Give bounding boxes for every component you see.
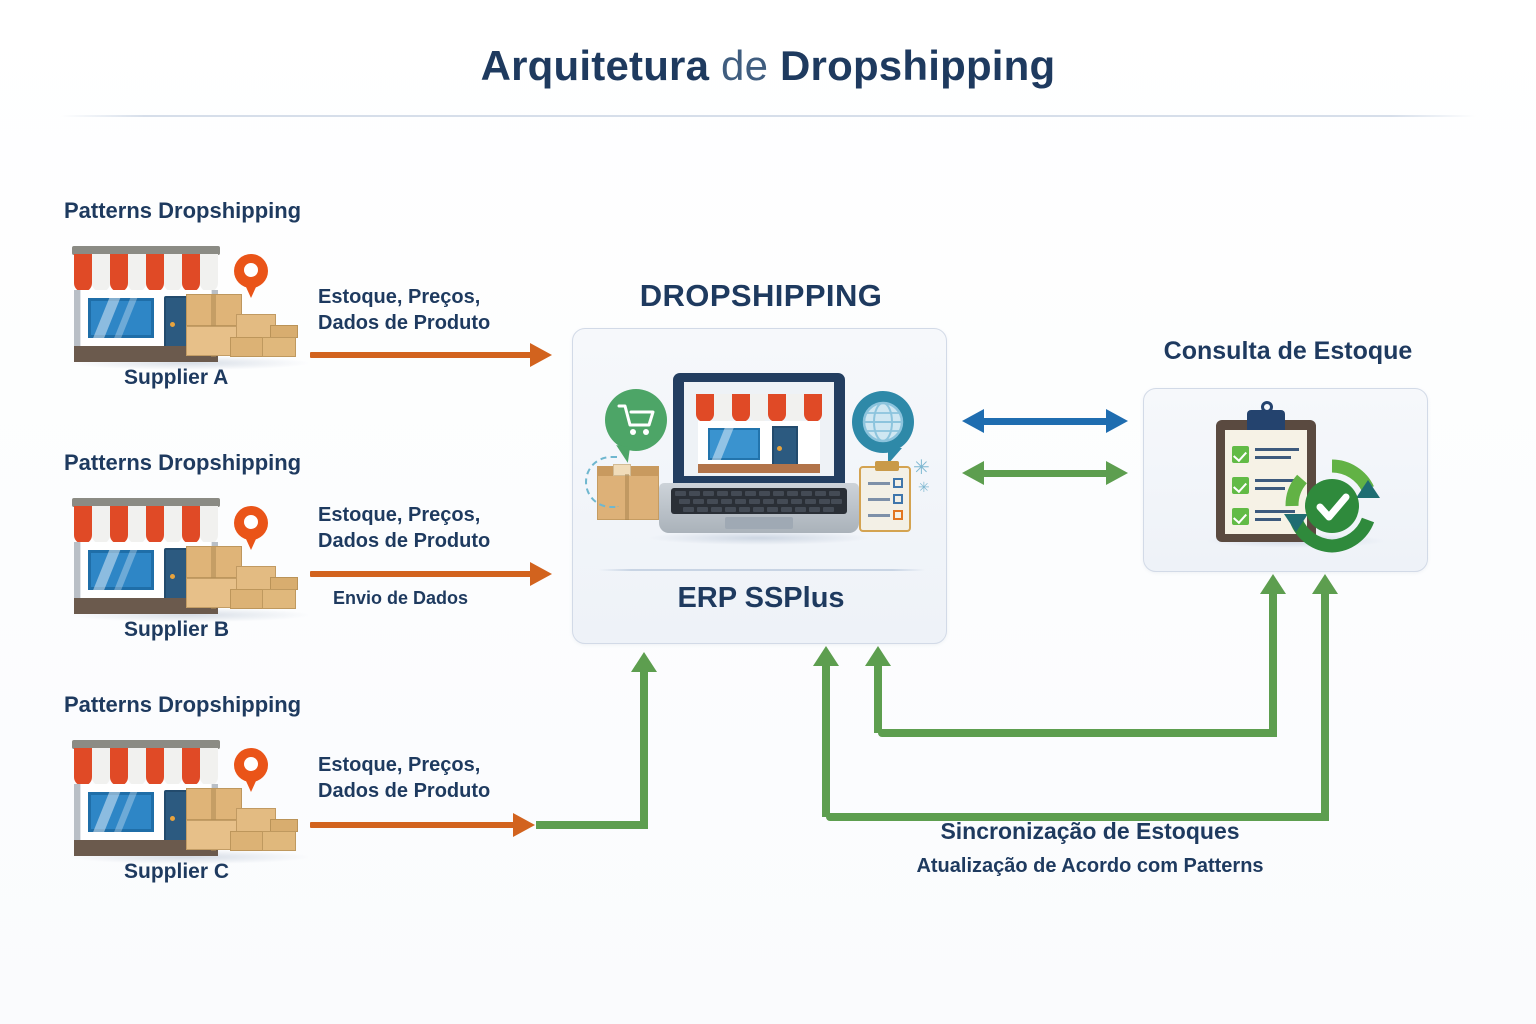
flow-line-1: Estoque, Preços, [318,286,480,308]
header-divider [60,115,1476,117]
green-route-stock-2-arrowhead [1312,574,1338,594]
package-boxes-icon [186,546,302,610]
supplier-block-c: Patterns Dropshipping Suppl [64,692,324,902]
supplier-c-flow-label: Estoque, Preços, Dados de Produto [318,753,490,804]
erp-stock-blue-arrow [984,418,1106,425]
package-boxes-icon [186,294,302,358]
shopping-cart-icon [605,389,667,451]
sync-note-sub: Atualização de Acordo com Patterns [830,855,1350,878]
storefront-icon [64,734,314,860]
stock-panel-title: Consulta de Estoque [1098,337,1478,366]
green-route-stock-1-vertical [1269,592,1277,737]
green-route-c-arrowhead [631,652,657,672]
sync-check-icon [1284,458,1380,554]
green-route-c-vertical [640,672,648,829]
clipboard-icon [859,466,911,532]
page-title-part1: Arquitetura [481,42,710,89]
supplier-block-b: Patterns Dropshipping Suppl [64,450,324,660]
flow-line-1: Estoque, Preços, [318,504,480,526]
supplier-a-arrow [310,352,532,358]
globe-icon [852,391,914,453]
green-route-stock-1-horizontal [878,729,1273,737]
supplier-a-label: Supplier A [124,366,228,390]
green-route-erp-2-arrowhead [813,646,839,666]
supplier-b-arrow [310,571,532,577]
green-route-stock-2-vertical [1321,592,1329,821]
supplier-b-label: Supplier B [124,618,229,642]
sparkle-icon: ✳ [913,455,930,480]
green-route-erp-1-arrowhead [865,646,891,666]
supplier-c-heading: Patterns Dropshipping [64,692,301,718]
supplier-c-arrow [310,822,515,828]
erp-panel-title: DROPSHIPPING [576,278,946,314]
flow-line-2: Dados de Produto [318,312,490,334]
flow-line-1: Estoque, Preços, [318,754,480,776]
green-route-c-horizontal [536,821,648,829]
page-title-part3: Dropshipping [780,42,1055,89]
supplier-a-flow-label: Estoque, Preços, Dados de Produto [318,285,490,336]
erp-panel-footer: ERP SSPlus [576,582,946,615]
green-route-erp-2-vertical [822,664,830,817]
sync-note-main: Sincronização de Estoques [830,818,1350,845]
dotted-flow-arc [585,456,619,508]
sparkle-icon-small: ✳ [918,479,930,496]
flow-line-2: Dados de Produto [318,780,490,802]
diagram-canvas: Arquitetura de Dropshipping Patterns Dro… [0,0,1536,1024]
green-route-stock-1-arrowhead [1260,574,1286,594]
supplier-a-heading: Patterns Dropshipping [64,198,301,224]
erp-stock-green-arrow [984,470,1106,477]
page-title-part2: de [709,42,780,89]
package-boxes-icon [186,788,302,852]
supplier-b-flow-label: Estoque, Preços, Dados de Produto [318,503,490,554]
erp-panel-divider [599,569,925,571]
flow-line-2: Dados de Produto [318,530,490,552]
green-route-erp-1-vertical [874,664,882,733]
supplier-block-a: Patterns Dropshipping Suppl [64,198,324,408]
storefront-icon [64,240,314,366]
supplier-c-label: Supplier C [124,860,229,884]
supplier-b-heading: Patterns Dropshipping [64,450,301,476]
laptop-storefront-icon [669,373,849,553]
storefront-icon [64,492,314,618]
page-title: Arquitetura de Dropshipping [0,42,1536,90]
supplier-b-flow-sub: Envio de Dados [333,588,468,609]
